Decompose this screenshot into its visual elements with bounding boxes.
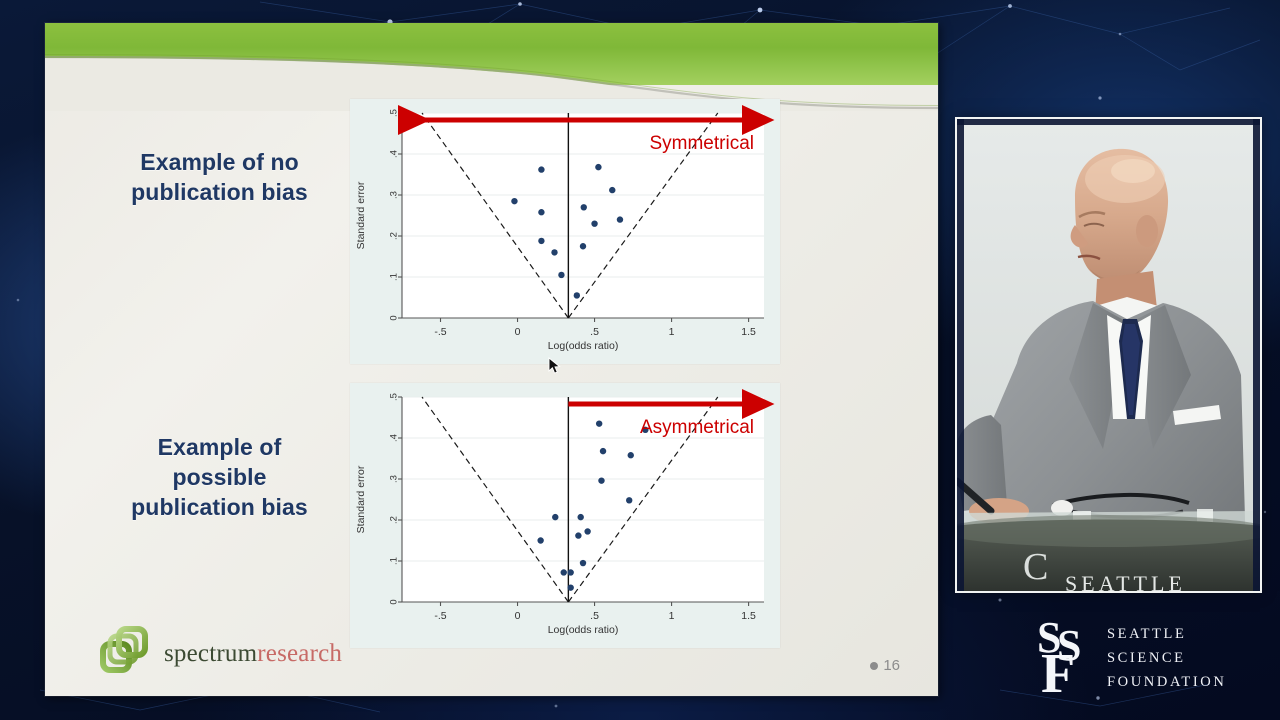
svg-text:1: 1 <box>669 326 675 338</box>
funnel-plot-asymmetrical-svg: 0.1.2.3.4.5-.50.511.5Log(odds ratio)Stan… <box>350 383 780 648</box>
logo-word-research: research <box>257 640 342 667</box>
svg-text:.4: .4 <box>389 150 400 158</box>
svg-text:-.5: -.5 <box>434 326 446 338</box>
funnel-plot-symmetrical: 0.1.2.3.4.5-.50.511.5Log(odds ratio)Stan… <box>350 99 780 364</box>
mouse-pointer-icon <box>548 357 562 375</box>
svg-text:.3: .3 <box>389 475 400 483</box>
podium-text: SEATTLE <box>1065 571 1186 591</box>
svg-text:Standard error: Standard error <box>355 465 367 533</box>
ssf-line-3: FOUNDATION <box>1107 671 1226 695</box>
caption-line: Example of possible publication bias <box>87 433 352 523</box>
caption-no-publication-bias: Example of no publication bias <box>87 148 352 208</box>
speaker-video-feed[interactable]: C SEATTLE <box>957 119 1260 591</box>
ssf-line-1: SEATTLE <box>1107 623 1226 647</box>
svg-text:-.5: -.5 <box>434 610 446 622</box>
svg-text:F: F <box>1041 643 1075 700</box>
ssf-monogram-icon: S S F <box>1035 618 1093 700</box>
page-bullet-icon <box>870 662 878 670</box>
svg-text:1.5: 1.5 <box>741 610 756 622</box>
svg-text:1: 1 <box>669 610 675 622</box>
svg-text:.1: .1 <box>389 557 400 565</box>
seattle-science-foundation-logo: S S F SEATTLE SCIENCE FOUNDATION <box>1035 618 1226 700</box>
presenter-at-podium-illustration: C SEATTLE <box>957 119 1260 591</box>
svg-text:.5: .5 <box>389 109 400 117</box>
svg-text:.5: .5 <box>590 610 599 622</box>
caption-possible-publication-bias: Example of possible publication bias <box>87 433 352 523</box>
svg-text:0: 0 <box>389 315 400 320</box>
caption-line: Example of no publication bias <box>87 148 352 208</box>
ssf-wordmark: SEATTLE SCIENCE FOUNDATION <box>1107 623 1226 695</box>
svg-text:1.5: 1.5 <box>741 326 756 338</box>
svg-text:0: 0 <box>515 610 521 622</box>
logo-word-spectrum: spectrum <box>164 640 257 667</box>
svg-text:.5: .5 <box>590 326 599 338</box>
svg-text:.2: .2 <box>389 232 400 240</box>
funnel-plot-symmetrical-svg: 0.1.2.3.4.5-.50.511.5Log(odds ratio)Stan… <box>350 99 780 364</box>
slide-page-number: 16 <box>870 657 900 674</box>
ssf-line-2: SCIENCE <box>1107 647 1226 671</box>
svg-text:0: 0 <box>515 326 521 338</box>
svg-text:.2: .2 <box>389 516 400 524</box>
funnel-plot-asymmetrical: 0.1.2.3.4.5-.50.511.5Log(odds ratio)Stan… <box>350 383 780 648</box>
slide-canvas: Example of no publication bias Example o… <box>45 23 938 696</box>
svg-text:Log(odds ratio): Log(odds ratio) <box>548 624 619 636</box>
svg-text:.4: .4 <box>389 434 400 442</box>
svg-text:0: 0 <box>389 599 400 604</box>
svg-text:Symmetrical: Symmetrical <box>649 133 754 154</box>
svg-text:.5: .5 <box>389 393 400 401</box>
svg-text:.3: .3 <box>389 191 400 199</box>
interlocking-squares-icon <box>100 625 158 683</box>
page-number-value: 16 <box>883 657 900 674</box>
svg-text:.1: .1 <box>389 273 400 281</box>
spectrum-research-logo: spectrumresearch <box>100 623 360 685</box>
svg-text:C: C <box>1023 546 1048 588</box>
presentation-viewer: Example of no publication bias Example o… <box>0 0 1280 720</box>
logo-wordmark: spectrumresearch <box>164 640 342 668</box>
svg-text:Asymmetrical: Asymmetrical <box>640 417 754 438</box>
svg-text:Standard error: Standard error <box>355 181 367 249</box>
svg-text:Log(odds ratio): Log(odds ratio) <box>548 340 619 352</box>
